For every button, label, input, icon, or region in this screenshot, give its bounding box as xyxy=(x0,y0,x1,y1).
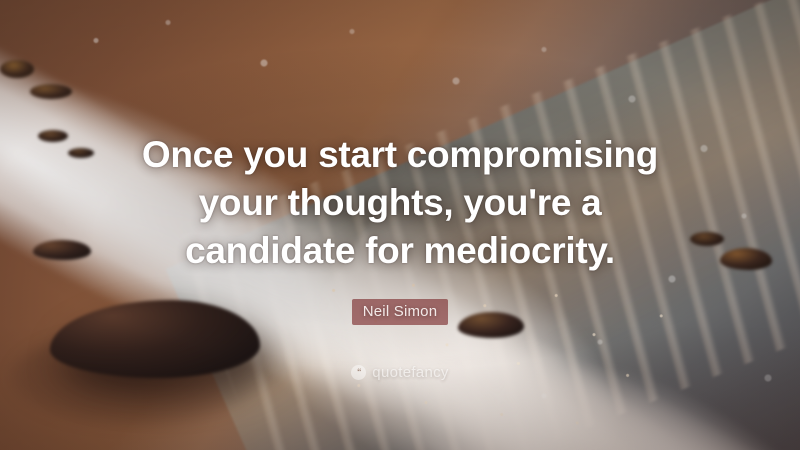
watermark-brand-label: quotefancy xyxy=(372,364,448,381)
watermark[interactable]: “ quotefancy xyxy=(0,364,800,381)
author-badge-wrapper: Neil Simon xyxy=(352,299,449,325)
overlay-content: Once you start compromising your thought… xyxy=(0,0,800,450)
quote-mark-icon: “ xyxy=(351,365,366,380)
quote-line-3: candidate for mediocrity. xyxy=(70,227,730,275)
author-name-badge[interactable]: Neil Simon xyxy=(352,299,449,325)
quote-line-1: Once you start compromising xyxy=(70,131,730,179)
quote-line-2: your thoughts, you're a xyxy=(70,179,730,227)
quote-text: Once you start compromising your thought… xyxy=(70,131,730,275)
quote-card: Once you start compromising your thought… xyxy=(0,0,800,450)
